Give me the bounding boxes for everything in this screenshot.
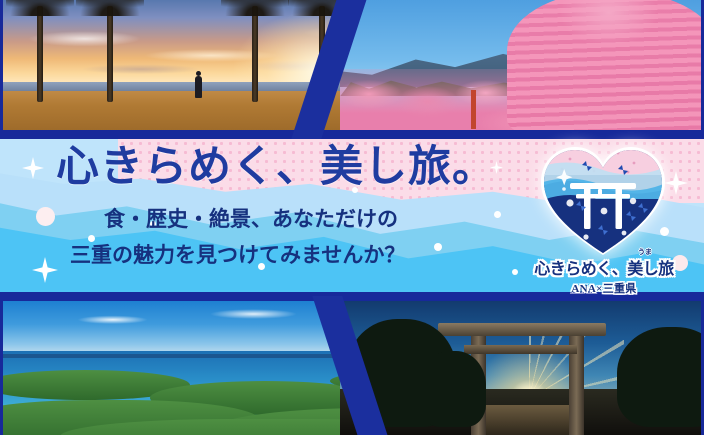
top-divider-bar [0,130,704,139]
red-post [471,90,476,130]
campaign-logo: 心きらめく、美し旅 うま ANA×三重県 [526,143,682,293]
weeping-plum-tree [507,0,704,132]
ise-jingu-torii-photo [340,300,704,435]
torii-lintel [438,323,605,336]
plum-blossom-photo [340,0,704,132]
banner-subtitle-line1: 食・歴史・絶景、あなただけの [104,203,398,233]
decor-dot [512,269,518,275]
decor-dot [434,243,442,251]
logo-text-block: 心きらめく、美し旅 うま ANA×三重県 [526,255,682,296]
logo-ruby: うま [638,247,652,257]
person-silhouette [195,76,202,98]
uji-bridge [478,405,573,435]
torii-crossbeam [464,345,577,354]
banner-subtitle-line2: 三重の魅力を見つけてみませんか？ [70,239,405,269]
sparkle-icon [22,157,44,179]
decor-dot [494,211,501,218]
logo-subtitle: ANA×三重県 [526,280,682,296]
heart-torii-icon [540,145,666,257]
promo-banner-image: 心きらめく、美し旅。 食・歴史・絶景、あなただけの 三重の魅力を見つけてみません… [0,0,704,435]
pine-tree [420,351,486,427]
logo-title: 心きらめく、美し旅 [534,255,674,279]
banner-headline: 心きらめく、美し旅。 [56,146,496,189]
decor-dot [36,207,55,226]
pine-tree [617,327,704,427]
